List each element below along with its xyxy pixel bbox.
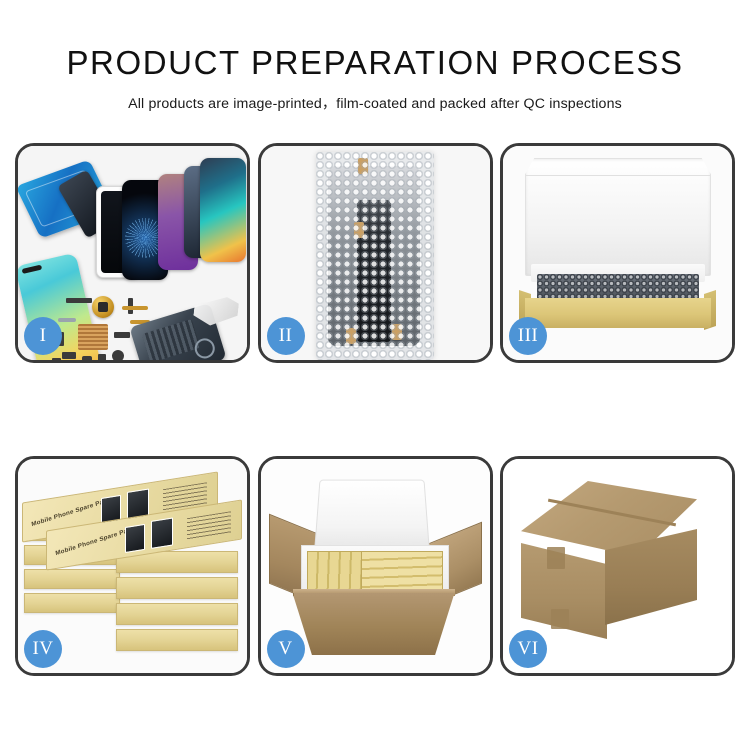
box-lid-white <box>525 158 711 276</box>
page-title: PRODUCT PREPARATION PROCESS <box>0 44 750 82</box>
stacked-box-l4 <box>24 593 120 613</box>
carton-tape-upper <box>547 547 565 569</box>
stacked-box-r2 <box>116 577 238 599</box>
step-badge-6: VI <box>509 630 547 668</box>
box-front-yellow <box>525 298 711 328</box>
part-strip-3 <box>62 352 76 359</box>
gold-component-icon <box>92 296 114 318</box>
flex-cable-1 <box>122 306 148 310</box>
box-photo-2b <box>151 517 173 548</box>
process-step-4[interactable]: Mobile Phone Spare Parts Mobile Phone Sp… <box>15 456 250 676</box>
step-badge-4: IV <box>24 630 62 668</box>
process-step-1[interactable]: I <box>15 143 250 363</box>
phone-teal-gradient <box>200 158 246 262</box>
part-small-3 <box>52 358 61 360</box>
part-small-1 <box>98 354 106 360</box>
tape-piece-top <box>358 158 368 174</box>
part-camera <box>82 356 92 360</box>
flex-cable-3 <box>58 318 76 322</box>
tape-piece-mid <box>354 222 364 238</box>
box-text-lines-2 <box>187 511 231 540</box>
process-step-6[interactable]: VI <box>500 456 735 676</box>
process-step-2[interactable]: II <box>258 143 493 363</box>
carton-tape-lower <box>551 609 569 629</box>
yellow-boxes-row-2 <box>361 551 443 591</box>
bubble-wrap-bag <box>316 152 434 360</box>
page-subtitle: All products are image-printed，film-coat… <box>0 93 750 113</box>
part-speaker <box>112 350 124 360</box>
stacked-box-r3 <box>116 603 238 625</box>
tape-piece-right <box>392 324 402 340</box>
part-small-2 <box>114 332 130 338</box>
step-badge-3: III <box>509 317 547 355</box>
carton-front-face <box>293 593 455 655</box>
chip-array-icon <box>78 324 108 350</box>
step-badge-2: II <box>267 317 305 355</box>
tape-piece-left <box>346 328 356 344</box>
box-label-2: Mobile Phone Spare Parts <box>55 525 136 557</box>
stacked-box-r4 <box>116 629 238 651</box>
part-strip-1 <box>66 298 92 303</box>
process-step-grid: I II <box>15 143 735 676</box>
header: PRODUCT PREPARATION PROCESS All products… <box>0 0 750 113</box>
stacked-box-l3 <box>24 569 120 589</box>
foam-lid <box>314 480 430 550</box>
box-photo-2a <box>125 524 145 553</box>
process-step-5[interactable]: V <box>258 456 493 676</box>
process-step-3[interactable]: III <box>500 143 735 363</box>
step-badge-1: I <box>24 317 62 355</box>
product-preparation-infographic: PRODUCT PREPARATION PROCESS All products… <box>0 0 750 750</box>
screen-assembly <box>328 166 420 346</box>
step-badge-5: V <box>267 630 305 668</box>
